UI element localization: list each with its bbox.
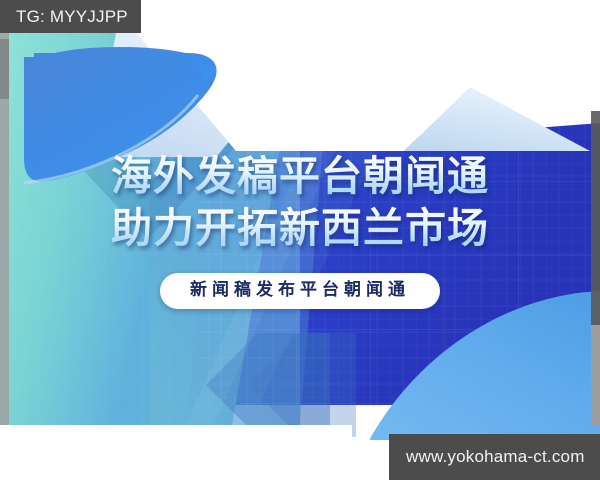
screenshot-canvas: 海外发稿平台朝闻通 助力开拓新西兰市场 新闻稿发布平台朝闻通 TG: MYYJJ… bbox=[0, 0, 600, 480]
telegram-watermark-label: TG: MYYJJPP bbox=[16, 7, 128, 27]
subheadline-pill: 新闻稿发布平台朝闻通 bbox=[160, 273, 440, 309]
website-watermark: www.yokohama-ct.com bbox=[389, 434, 600, 480]
subheadline-label: 新闻稿发布平台朝闻通 bbox=[190, 280, 410, 301]
website-watermark-label: www.yokohama-ct.com bbox=[406, 447, 585, 467]
banner-artwork bbox=[0, 33, 600, 440]
subheadline-pill-wrap: 新闻稿发布平台朝闻通 bbox=[0, 273, 600, 309]
promo-banner-image bbox=[0, 33, 600, 440]
telegram-watermark: TG: MYYJJPP bbox=[0, 0, 141, 33]
